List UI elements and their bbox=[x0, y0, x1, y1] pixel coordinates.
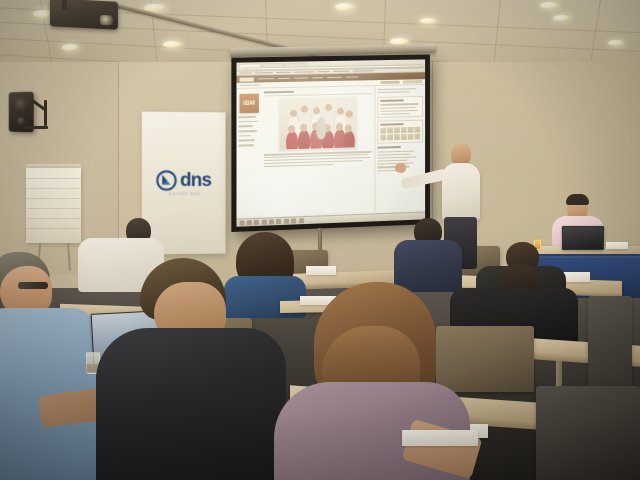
dns-wordmark: dns bbox=[180, 171, 211, 190]
handout-mid-1 bbox=[306, 266, 336, 275]
sidebar-card-line[interactable] bbox=[377, 153, 410, 155]
ceiling-downlight bbox=[608, 40, 624, 46]
thumbnail[interactable] bbox=[394, 134, 400, 140]
thumbnail[interactable] bbox=[401, 134, 407, 140]
flipchart-paper bbox=[26, 168, 81, 243]
suit-man-jacket bbox=[96, 328, 286, 480]
taskbar-icon[interactable] bbox=[247, 220, 252, 225]
bookmark-item[interactable] bbox=[276, 71, 291, 73]
sidebar-link[interactable] bbox=[239, 116, 256, 118]
dns-tagline: partner way bbox=[169, 191, 201, 196]
screen-surface: IBM bbox=[236, 59, 425, 226]
thumbnail[interactable] bbox=[414, 127, 420, 133]
attendee-woman-mauve-top bbox=[288, 282, 488, 480]
sidebar-card-title bbox=[377, 146, 400, 148]
bookmark-item[interactable] bbox=[240, 72, 252, 74]
taskbar-icon[interactable] bbox=[254, 220, 259, 225]
article-title bbox=[264, 91, 294, 93]
flipchart-rule bbox=[26, 178, 81, 179]
sidebar-card-line[interactable] bbox=[380, 107, 415, 109]
sidebar-card-title bbox=[380, 100, 403, 102]
bookmark-item[interactable] bbox=[333, 70, 350, 72]
flipchart-rule bbox=[26, 218, 81, 219]
attendee-dark-suit-foreground bbox=[96, 258, 288, 480]
photo-person bbox=[286, 131, 298, 149]
thumbnail[interactable] bbox=[408, 127, 414, 133]
nav-item[interactable] bbox=[278, 77, 290, 79]
projection-screen[interactable]: IBM bbox=[231, 54, 430, 232]
sidebar-card-title bbox=[380, 123, 403, 125]
projector-lens bbox=[100, 15, 113, 26]
group-photo bbox=[279, 97, 357, 151]
photo-person bbox=[344, 131, 355, 150]
thumbnail[interactable] bbox=[394, 127, 400, 133]
bookmark-item[interactable] bbox=[255, 72, 273, 74]
taskbar-icon[interactable] bbox=[239, 220, 244, 225]
thumbnail-grid[interactable] bbox=[380, 127, 420, 141]
article-divider bbox=[264, 93, 372, 96]
taskbar-icon[interactable] bbox=[291, 218, 296, 223]
sidebar-link[interactable] bbox=[239, 135, 251, 137]
site-logo[interactable] bbox=[240, 77, 254, 81]
sidebar-card-line[interactable] bbox=[377, 156, 416, 158]
ceiling-grid-line bbox=[494, 0, 501, 62]
dns-logo: dns bbox=[156, 170, 211, 191]
page-left-sidebar[interactable]: IBM bbox=[236, 88, 260, 216]
bookmark-item[interactable] bbox=[353, 70, 375, 72]
thumbnail[interactable] bbox=[387, 135, 393, 141]
speaker-bracket-post bbox=[44, 100, 47, 126]
flipchart-rule bbox=[26, 188, 81, 189]
chair-bottom-right[interactable] bbox=[536, 386, 640, 480]
thumbnail[interactable] bbox=[380, 135, 386, 141]
handout-front-right bbox=[402, 430, 478, 446]
speaker-bracket-foot bbox=[24, 126, 48, 129]
ceiling-downlight bbox=[163, 41, 182, 48]
presenter-pointing-hand bbox=[395, 163, 406, 173]
photo-person bbox=[316, 118, 326, 140]
ceiling-downlight bbox=[335, 3, 355, 11]
thumbnail[interactable] bbox=[414, 134, 420, 140]
nav-item[interactable] bbox=[258, 78, 274, 80]
sidebar-link[interactable] bbox=[239, 140, 255, 142]
sidebar-link[interactable] bbox=[239, 121, 258, 123]
page-right-sidebar bbox=[374, 85, 425, 211]
ceiling-downlight bbox=[540, 2, 559, 9]
sidebar-card-line[interactable] bbox=[380, 103, 418, 105]
taskbar-icon[interactable] bbox=[269, 219, 274, 224]
taskbar-icon[interactable] bbox=[276, 219, 281, 224]
flipchart-rule bbox=[26, 228, 81, 229]
sidebar-card-line[interactable] bbox=[377, 150, 414, 152]
browser-window[interactable]: IBM bbox=[236, 59, 425, 226]
conference-room-photo: dns partner way bbox=[0, 0, 640, 480]
group-photo-image bbox=[280, 98, 355, 150]
operator-hair bbox=[566, 194, 589, 205]
bookmark-item[interactable] bbox=[294, 71, 314, 73]
sidebar-card-line[interactable] bbox=[377, 160, 407, 162]
nav-item[interactable] bbox=[346, 76, 359, 78]
taskbar-icon[interactable] bbox=[299, 218, 304, 223]
sidebar-card-thumbnails bbox=[377, 120, 423, 144]
operator-paper bbox=[606, 242, 628, 249]
photo-person bbox=[298, 130, 310, 150]
ceiling-downlight bbox=[553, 15, 570, 21]
flipchart-rule bbox=[26, 198, 81, 199]
ibm-logo-text: IBM bbox=[243, 100, 255, 106]
speaker-woofer bbox=[14, 98, 27, 112]
page-body: IBM bbox=[236, 85, 425, 217]
ceiling-downlight bbox=[62, 44, 79, 51]
secondary-action-button[interactable] bbox=[403, 80, 422, 84]
projector-mount bbox=[62, 0, 67, 10]
sidebar-link[interactable] bbox=[239, 130, 257, 132]
sidebar-card-line[interactable] bbox=[380, 113, 410, 115]
sidebar-link[interactable] bbox=[239, 144, 254, 146]
sidebar-note-line bbox=[377, 88, 416, 90]
thumbnail[interactable] bbox=[401, 127, 407, 133]
thumbnail[interactable] bbox=[387, 128, 393, 134]
sidebar-link[interactable] bbox=[239, 125, 253, 127]
blue-shirt-glasses-icon bbox=[18, 282, 48, 289]
flipchart-rule bbox=[26, 208, 81, 209]
thumbnail[interactable] bbox=[380, 128, 386, 134]
taskbar-icon[interactable] bbox=[262, 220, 267, 225]
nav-item[interactable] bbox=[327, 76, 342, 78]
nav-item[interactable] bbox=[312, 77, 323, 79]
breadcrumb bbox=[240, 84, 260, 86]
sidebar-card bbox=[377, 96, 423, 118]
ibm-logo-tile: IBM bbox=[240, 94, 259, 114]
taskbar-icon[interactable] bbox=[284, 219, 289, 224]
ceiling-projector bbox=[50, 0, 118, 30]
thumbnail[interactable] bbox=[408, 134, 414, 140]
bookmark-item[interactable] bbox=[317, 71, 330, 73]
sidebar-card-line[interactable] bbox=[380, 110, 417, 112]
operator-laptop-screen bbox=[562, 226, 604, 250]
dns-mark-icon bbox=[156, 170, 177, 191]
ceiling-downlight bbox=[420, 18, 437, 24]
nav-item[interactable] bbox=[294, 77, 308, 79]
primary-action-button[interactable] bbox=[380, 80, 400, 84]
article-text-line bbox=[264, 164, 333, 167]
page-main-column bbox=[261, 86, 375, 216]
sidebar-note-line bbox=[377, 92, 409, 94]
speaker-tweeter bbox=[17, 117, 25, 125]
